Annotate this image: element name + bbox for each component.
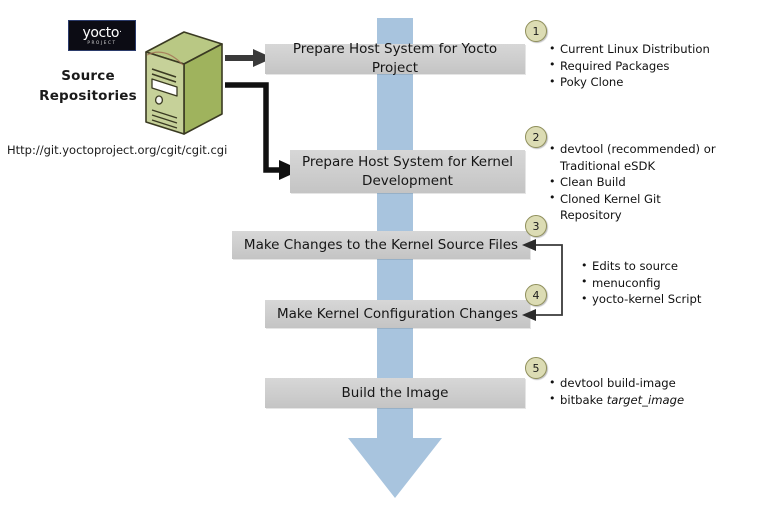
note-text: bitbake — [560, 393, 607, 407]
note-item: Poky Clone — [548, 74, 753, 91]
main-flow-arrow — [330, 18, 460, 513]
steps-3-4-shared-notes: Edits to source menuconfig yocto-kernel … — [580, 258, 755, 308]
step-2-notes: devtool (recommended) or Traditional eSD… — [548, 141, 723, 224]
note-item: devtool build-image — [548, 375, 733, 392]
logo-wordmark: yocto· — [82, 26, 121, 40]
step-box-2-label: Prepare Host System for Kernel Developme… — [296, 153, 519, 191]
step-box-4[interactable]: Make Kernel Configuration Changes — [265, 300, 530, 328]
note-text: devtool build-image — [560, 376, 676, 390]
step-number-1: 1 — [525, 20, 547, 42]
step-number-5: 5 — [525, 357, 547, 379]
step-box-3-label: Make Changes to the Kernel Source Files — [244, 236, 518, 255]
note-text: Cloned Kernel Git Repository — [560, 192, 661, 223]
note-item: Current Linux Distribution — [548, 41, 753, 58]
step-1-notes: Current Linux Distribution Required Pack… — [548, 41, 753, 91]
logo-dot: · — [119, 27, 121, 37]
note-text: menuconfig — [592, 276, 661, 290]
note-text: devtool (recommended) or Traditional eSD… — [560, 142, 716, 173]
step-box-2[interactable]: Prepare Host System for Kernel Developme… — [290, 150, 525, 193]
step-box-5[interactable]: Build the Image — [265, 378, 525, 408]
note-text: Required Packages — [560, 59, 669, 73]
note-item: devtool (recommended) or Traditional eSD… — [548, 141, 723, 174]
logo-subtitle: PROJECT — [87, 41, 116, 45]
note-item: Clean Build — [548, 174, 723, 191]
step-box-1[interactable]: Prepare Host System for Yocto Project — [265, 44, 525, 74]
note-text: Edits to source — [592, 259, 678, 273]
source-repositories-label: Source Repositories — [34, 66, 142, 106]
step-5-notes: devtool build-image bitbake target_image — [548, 375, 733, 408]
diagram-canvas: yocto· PROJECT Source Repositories Http:… — [0, 0, 769, 517]
note-item: yocto-kernel Script — [580, 291, 755, 308]
step-box-5-label: Build the Image — [342, 384, 449, 403]
note-text: yocto-kernel Script — [592, 292, 701, 306]
note-text: Current Linux Distribution — [560, 42, 710, 56]
note-text: Poky Clone — [560, 75, 623, 89]
note-item: menuconfig — [580, 275, 755, 292]
step-box-4-label: Make Kernel Configuration Changes — [277, 305, 518, 324]
step-number-5-text: 5 — [533, 362, 540, 375]
step-box-1-label: Prepare Host System for Yocto Project — [271, 40, 519, 78]
note-item: Edits to source — [580, 258, 755, 275]
note-item: Required Packages — [548, 58, 753, 75]
source-label-line1: Source — [34, 66, 142, 86]
step-box-3[interactable]: Make Changes to the Kernel Source Files — [232, 231, 530, 259]
step-number-2: 2 — [525, 126, 547, 148]
logo-word-text: yocto — [82, 25, 119, 41]
note-item: bitbake target_image — [548, 392, 733, 409]
note-item: Cloned Kernel Git Repository — [548, 191, 723, 224]
source-label-line2: Repositories — [34, 86, 142, 106]
step-number-2-text: 2 — [533, 131, 540, 144]
step-number-1-text: 1 — [533, 25, 540, 38]
yocto-project-logo: yocto· PROJECT — [68, 20, 136, 51]
note-text-italic: target_image — [607, 393, 684, 407]
note-text: Clean Build — [560, 175, 626, 189]
